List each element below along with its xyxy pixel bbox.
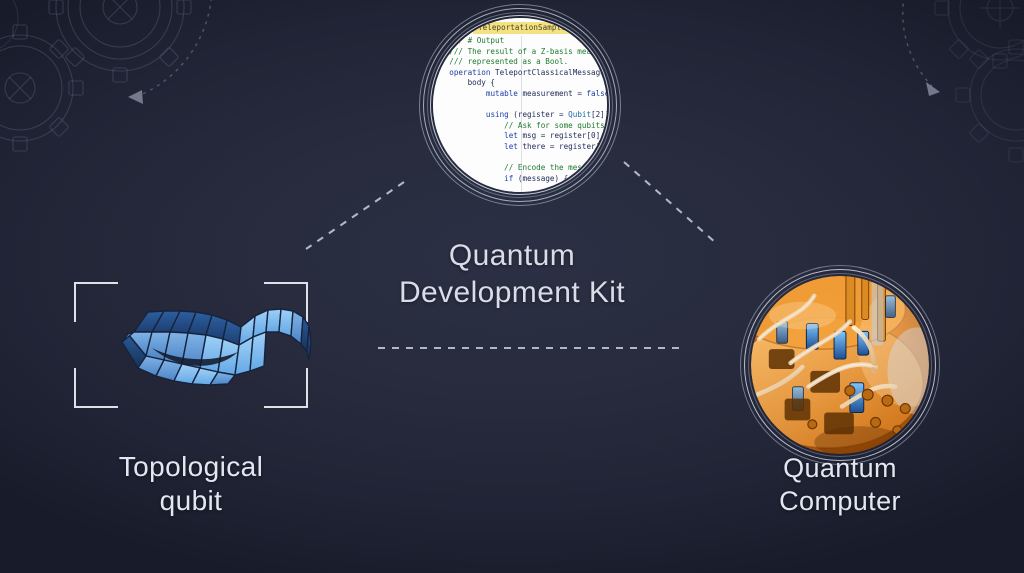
mobius-ribbon-icon [60, 272, 322, 416]
quantum-hardware-photo [751, 276, 929, 454]
qubit-caption-line1: Topological [119, 451, 264, 482]
gear-icon-left-edge [0, 0, 18, 52]
gear-icon-top-left-b [0, 25, 83, 151]
qdk-code-circle[interactable]: TeleportationSample /// # Output /// The… [419, 4, 621, 206]
qdk-caption: Quantum Development Kit [352, 238, 672, 311]
qc-caption-line1: Quantum [783, 453, 897, 483]
topological-qubit-caption: Topological qubit [66, 450, 316, 518]
editor-tab-teleportationsample[interactable]: TeleportationSample [473, 22, 571, 34]
dashed-arc-right [903, 0, 940, 96]
qdk-caption-line2: Development Kit [352, 275, 672, 312]
qubit-caption-line2: qubit [66, 484, 316, 518]
code-text: /// # Output /// The result of a Z-basis… [433, 36, 607, 192]
gear-icon-top-right-b [956, 40, 1024, 162]
topological-qubit-node[interactable] [60, 272, 322, 416]
qc-caption-line2: Computer [722, 485, 958, 518]
connector-qdk-to-qc [624, 162, 716, 243]
slide-canvas: TeleportationSample /// # Output /// The… [0, 0, 1024, 573]
dashed-arc-left [128, 0, 212, 104]
qdk-caption-line1: Quantum [449, 239, 575, 272]
gear-icon-top-right-a [935, 0, 1024, 68]
quantum-computer-caption: Quantum Computer [722, 452, 958, 518]
code-editor-disc[interactable]: TeleportationSample /// # Output /// The… [433, 18, 607, 192]
gear-icon-top-left-a [49, 0, 191, 82]
quantum-computer-node[interactable] [740, 265, 940, 465]
